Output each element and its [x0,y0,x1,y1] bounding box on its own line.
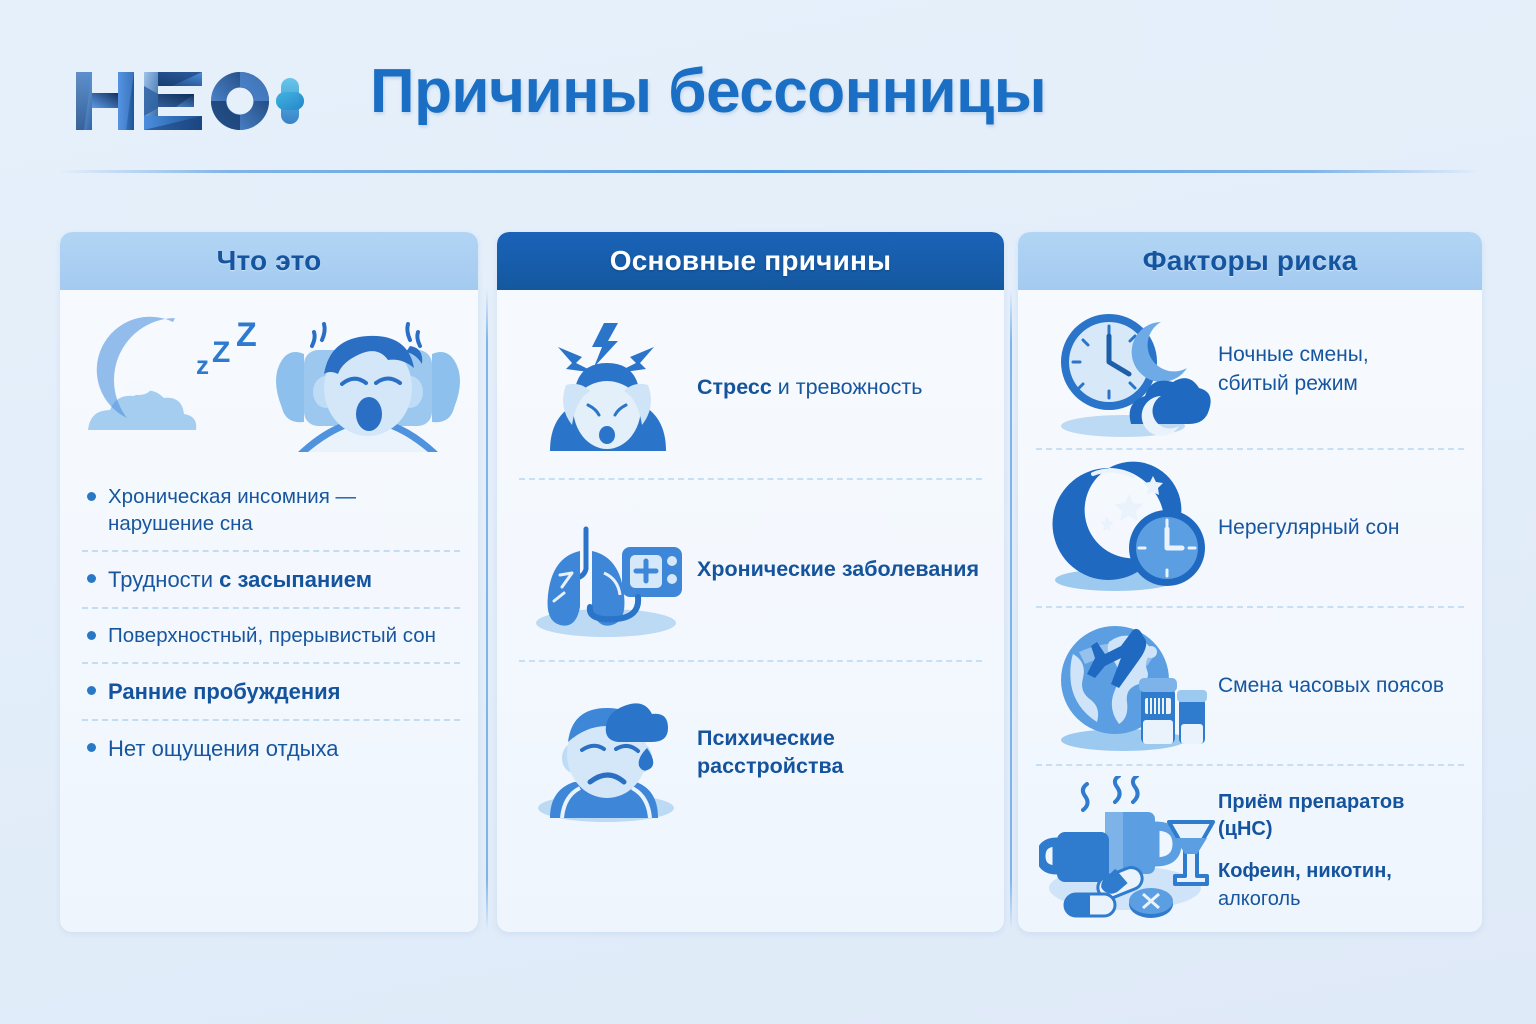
cause-2-bold: Психические расстройства [697,726,843,778]
card-header-risk-factors: Факторы риска [1018,232,1482,290]
what-item-1-bold: с засыпанием [219,567,372,592]
risk-0-label: Ночные смены, сбитый режим [1218,341,1369,399]
list-item: Трудности с засыпанием [82,552,460,609]
list-item: Поверхностный, прерывистый сон [82,609,460,664]
what-item-2-label: Поверхностный, прерывистый сон [108,622,460,649]
column-separator-2 [1010,290,1012,930]
cause-2-label: Психические расстройства [697,725,982,781]
coffee-wine-pills-icon [1036,776,1218,926]
cause-0-bold: Стресс [697,375,772,399]
globe-airplane-pills-icon [1036,616,1218,756]
what-item-3-bold: Ранние пробуждения [108,679,340,704]
what-item-0-label: Хроническая инсомния — нарушение сна [108,483,460,537]
list-item: Ранние пробуждения [82,664,460,721]
z-large: Z [236,316,257,354]
card-main-causes: Основные причины [497,232,1004,932]
cause-0-rest: и тревожность [772,375,923,399]
columns-container: Что это z Z Z [0,232,1536,936]
risk-2-line1: Смена часовых поясов [1218,674,1444,697]
what-item-1-plain: Трудности [108,567,219,592]
risk-0-line1: Ночные смены, [1218,343,1369,366]
cause-1-label: Хронические заболевания [697,556,979,584]
what-is-it-list: Хроническая инсомния — нарушение сна Тру… [82,470,460,776]
list-item: Нет ощущения отдыха [82,721,460,776]
header-divider [58,170,1482,173]
z-medium: Z [212,336,230,369]
moon-and-sleeper-svg: z Z Z [60,302,478,462]
crescent-moon-stars-clock-icon [1036,458,1218,598]
risk-factors-list: Ночные смены, сбитый режим [1036,292,1464,932]
card-header-main-causes-label: Основные причины [610,245,891,277]
card-what-is-it: Что это z Z Z [60,232,478,932]
what-item-3: Ранние пробуждения [108,677,460,706]
clock-moon-cloud-icon [1036,300,1218,440]
main-causes-list: Стресс и тревожность [519,298,982,844]
cause-0-label: Стресс и тревожность [697,374,922,402]
neo-plus-logo [72,66,304,136]
risk-1-label: Нерегулярный сон [1218,514,1399,543]
what-item-1: Трудности с засыпанием [108,565,460,594]
risk-3-line2: Кофеин, никотин, [1218,858,1464,886]
risk-0-line2: сбитый режим [1218,370,1369,399]
cause-1-bold: Хронические заболевания [697,557,979,581]
risk-3-label: Приём препаратов (цНС) Кофеин, никотин, … [1218,789,1464,913]
list-item: Смена часовых поясов [1036,608,1464,766]
sad-face-rain-cloud-icon [519,678,697,828]
list-item: Хроническая инсомния — нарушение сна [82,470,460,552]
risk-3-line1: Приём препаратов (цНС) [1218,791,1404,841]
lungs-blood-pressure-monitor-icon [519,495,697,645]
card-header-what-is-it: Что это [60,232,478,290]
risk-1-line1: Нерегулярный сон [1218,516,1399,539]
card-risk-factors: Факторы риска [1018,232,1482,932]
page-title: Причины бессонницы [370,56,1046,127]
logo-svg [72,66,304,136]
list-item: Стресс и тревожность [519,298,982,480]
risk-3-line3: алкоголь [1218,886,1464,914]
what-item-4-label: Нет ощущения отдыха [108,734,460,763]
column-separator-1 [486,290,488,930]
page-header: Причины бессонницы [0,0,1536,172]
card-header-main-causes: Основные причины [497,232,1004,290]
card-header-what-is-it-label: Что это [217,245,322,277]
yawning-person-icon [276,324,460,452]
list-item: Психические расстройства [519,662,982,844]
list-item: Приём препаратов (цНС) Кофеин, никотин, … [1036,766,1464,932]
list-item: Хронические заболевания [519,480,982,662]
list-item: Нерегулярный сон [1036,450,1464,608]
stressed-head-lightning-icon [519,313,697,463]
card-header-risk-factors-label: Факторы риска [1143,245,1358,277]
list-item: Ночные смены, сбитый режим [1036,292,1464,450]
risk-2-label: Смена часовых поясов [1218,672,1444,701]
what-is-it-illustration: z Z Z [60,302,478,462]
z-small: z [196,350,209,380]
